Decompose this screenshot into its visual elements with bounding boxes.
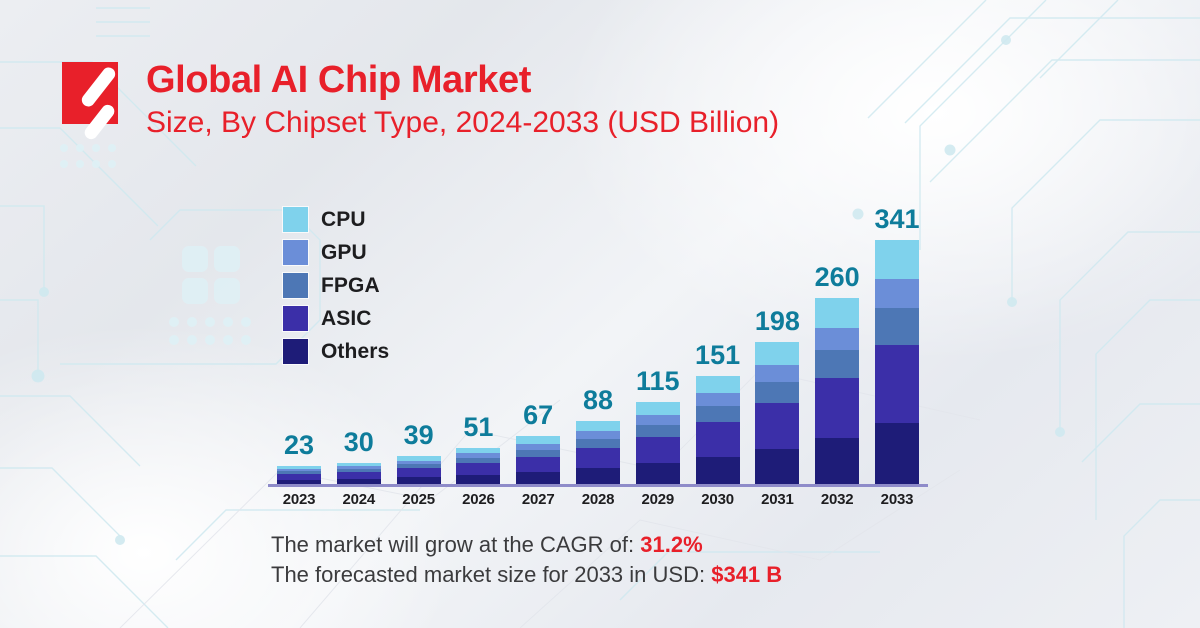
bar-segment-fpga (636, 425, 680, 437)
bar-segment-others (397, 477, 441, 484)
bar-segment-cpu (755, 342, 799, 365)
legend-swatch-gpu-icon (283, 240, 308, 265)
bar-value-label: 67 (523, 402, 553, 429)
chart-legend: CPUGPUFPGAASICOthers (283, 203, 389, 368)
bar-segment-others (576, 468, 620, 484)
bar-value-label: 198 (755, 308, 800, 335)
bar-segment-cpu (875, 240, 919, 279)
bar-column-2026[interactable]: 51 (453, 196, 503, 484)
bar-stack (636, 402, 680, 484)
legend-item-label: GPU (321, 241, 367, 265)
x-axis-label-2031: 2031 (752, 491, 802, 508)
bar-value-label: 115 (636, 368, 680, 395)
bar-segment-fpga (696, 406, 740, 422)
bar-value-label: 30 (344, 429, 374, 456)
x-axis-label-2024: 2024 (334, 491, 384, 508)
bar-segment-fpga (755, 382, 799, 403)
x-axis-label-2029: 2029 (633, 491, 683, 508)
bar-segment-asic (636, 437, 680, 463)
bar-segment-asic (696, 422, 740, 457)
bar-stack (576, 421, 620, 484)
bar-segment-asic (815, 378, 859, 438)
bar-segment-others (456, 475, 500, 484)
bar-segment-gpu (636, 415, 680, 425)
legend-item-label: Others (321, 340, 389, 364)
x-axis-label-2033: 2033 (872, 491, 922, 508)
x-axis-label-2023: 2023 (274, 491, 324, 508)
bar-segment-cpu (576, 421, 620, 431)
legend-swatch-fpga-icon (283, 273, 308, 298)
legend-item-cpu[interactable]: CPU (283, 203, 389, 236)
bar-segment-asic (755, 403, 799, 448)
legend-item-label: CPU (321, 208, 366, 232)
title-block: Global AI Chip Market Size, By Chipset T… (146, 58, 779, 141)
x-axis-label-2028: 2028 (573, 491, 623, 508)
bar-segment-others (815, 438, 859, 485)
legend-item-fpga[interactable]: FPGA (283, 269, 389, 302)
bar-segment-asic (576, 448, 620, 468)
header: Global AI Chip Market Size, By Chipset T… (62, 58, 779, 144)
bar-column-2027[interactable]: 67 (513, 196, 563, 484)
bar-segment-asic (397, 468, 441, 477)
bar-segment-fpga (815, 350, 859, 378)
bar-segment-fpga (875, 308, 919, 345)
bar-segment-asic (875, 345, 919, 423)
legend-item-gpu[interactable]: GPU (283, 236, 389, 269)
forecast-label: The forecasted market size for 2033 in U… (271, 562, 705, 587)
forecast-line: The forecasted market size for 2033 in U… (271, 560, 782, 590)
bar-column-2025[interactable]: 39 (394, 196, 444, 484)
bar-value-label: 341 (874, 206, 919, 233)
bar-column-2032[interactable]: 260 (812, 196, 862, 484)
bar-segment-asic (516, 457, 560, 472)
bar-segment-cpu (636, 402, 680, 415)
bar-segment-fpga (516, 450, 560, 457)
bar-segment-others (875, 423, 919, 484)
bar-value-label: 39 (404, 422, 434, 449)
page-subtitle: Size, By Chipset Type, 2024-2033 (USD Bi… (146, 105, 779, 140)
bar-stack (277, 466, 321, 484)
bar-value-label: 151 (695, 342, 740, 369)
x-axis-line (268, 484, 928, 487)
x-axis-label-2026: 2026 (453, 491, 503, 508)
bar-column-2028[interactable]: 88 (573, 196, 623, 484)
page-title: Global AI Chip Market (146, 60, 779, 100)
bar-segment-gpu (875, 279, 919, 308)
bar-stack (875, 240, 919, 484)
x-axis-label-2027: 2027 (513, 491, 563, 508)
bar-column-2029[interactable]: 115 (633, 196, 683, 484)
footer-summary: The market will grow at the CAGR of: 31.… (271, 530, 782, 591)
infographic-canvas: Global AI Chip Market Size, By Chipset T… (0, 0, 1200, 628)
bar-stack (516, 436, 560, 484)
bar-value-label: 260 (815, 264, 860, 291)
bar-segment-others (755, 449, 799, 484)
bar-column-2033[interactable]: 341 (872, 196, 922, 484)
bar-segment-others (636, 463, 680, 484)
bar-stack (456, 448, 500, 484)
bar-stack (397, 456, 441, 484)
legend-swatch-cpu-icon (283, 207, 308, 232)
legend-item-asic[interactable]: ASIC (283, 302, 389, 335)
bar-stack (755, 342, 799, 484)
legend-item-others[interactable]: Others (283, 335, 389, 368)
bar-stack (815, 298, 859, 484)
bar-segment-asic (337, 472, 381, 479)
x-axis-label-2025: 2025 (394, 491, 444, 508)
bar-segment-gpu (815, 328, 859, 350)
bar-segment-others (516, 472, 560, 484)
bar-segment-fpga (576, 439, 620, 448)
cagr-label: The market will grow at the CAGR of: (271, 532, 634, 557)
bar-value-label: 88 (583, 387, 613, 414)
bar-segment-gpu (696, 393, 740, 406)
forecast-value: $341 B (711, 562, 782, 587)
bar-segment-cpu (696, 376, 740, 393)
x-axis-label-2030: 2030 (693, 491, 743, 508)
bar-value-label: 23 (284, 432, 314, 459)
bar-segment-others (696, 457, 740, 484)
x-axis-labels: 2023202420252026202720282029203020312032… (274, 491, 922, 508)
cagr-value: 31.2% (640, 532, 702, 557)
bar-segment-gpu (576, 431, 620, 439)
bar-segment-asic (456, 463, 500, 475)
x-axis-label-2032: 2032 (812, 491, 862, 508)
bar-segment-cpu (815, 298, 859, 328)
legend-swatch-others-icon (283, 339, 308, 364)
cagr-line: The market will grow at the CAGR of: 31.… (271, 530, 782, 560)
legend-swatch-asic-icon (283, 306, 308, 331)
bar-segment-cpu (516, 436, 560, 444)
bar-stack (337, 463, 381, 484)
bar-column-2031[interactable]: 198 (752, 196, 802, 484)
bar-segment-gpu (755, 365, 799, 382)
legend-item-label: ASIC (321, 307, 372, 331)
brand-logo-icon (62, 62, 124, 144)
bar-value-label: 51 (463, 414, 493, 441)
legend-item-label: FPGA (321, 274, 380, 298)
bar-stack (696, 376, 740, 484)
bar-column-2030[interactable]: 151 (693, 196, 743, 484)
